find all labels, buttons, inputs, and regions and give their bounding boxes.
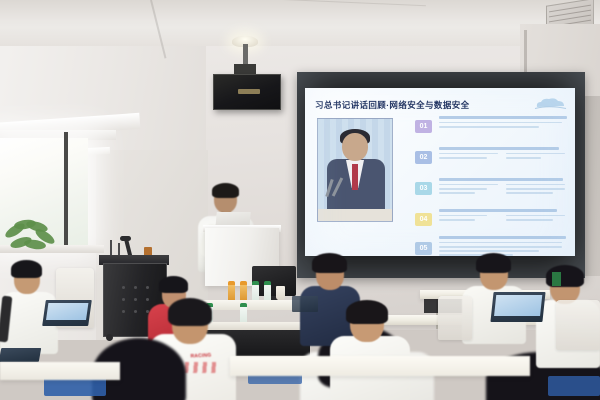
attendee-hair xyxy=(312,253,347,273)
projection-screen-surface: 习总书记讲话回顾·网络安全与数据安全 01 xyxy=(305,88,575,256)
chair xyxy=(438,296,472,340)
laptop xyxy=(490,292,545,322)
attendee-hair xyxy=(346,300,388,324)
chair xyxy=(556,300,600,350)
slide-badge-02: 02 xyxy=(415,151,432,164)
slide-badge-03: 03 xyxy=(415,182,432,195)
slide-body-text xyxy=(439,116,567,256)
exit-sign xyxy=(552,272,561,286)
projection-screen: 习总书记讲话回顾·网络安全与数据安全 01 xyxy=(297,72,585,278)
potted-plant xyxy=(4,218,62,258)
paper-cup xyxy=(276,286,285,300)
attendee-hair xyxy=(168,298,212,326)
ceiling-projector xyxy=(213,74,281,110)
classroom-photo: 习总书记讲话回顾·网络安全与数据安全 01 xyxy=(0,0,600,400)
slide-badge-05: 05 xyxy=(415,242,432,255)
laptop xyxy=(0,348,41,362)
bottle-cap-green xyxy=(252,281,259,285)
presenter-hair xyxy=(212,183,239,198)
laptop-screen xyxy=(494,295,542,316)
slide-section-badges: 01 02 03 04 05 xyxy=(413,118,437,256)
mousepad xyxy=(548,376,600,396)
bottle-cap xyxy=(240,281,247,285)
projector-brand-badge xyxy=(238,89,260,94)
laptop xyxy=(292,296,318,312)
window-mullion xyxy=(64,132,68,252)
slide-badge-04: 04 xyxy=(415,213,432,226)
slide-badge-01: 01 xyxy=(415,120,432,133)
attendee-right-seated xyxy=(330,300,410,400)
desk-foreground xyxy=(230,356,530,376)
slide-speaker-photo xyxy=(317,118,393,222)
cloud-logo-icon xyxy=(533,96,567,110)
bottle-cap-green xyxy=(240,303,247,307)
bottle-cap-green xyxy=(264,281,271,285)
bottle-cap xyxy=(228,281,235,285)
attendee-hair xyxy=(11,260,42,278)
attendee-hair xyxy=(476,253,511,273)
slide-title: 习总书记讲话回顾·网络安全与数据安全 xyxy=(315,99,470,111)
attendee-hair xyxy=(159,276,188,293)
laptop xyxy=(42,300,92,326)
desk-foreground-left xyxy=(0,362,120,380)
presentation-slide: 习总书记讲话回顾·网络安全与数据安全 01 xyxy=(305,88,575,256)
laptop-screen xyxy=(46,303,88,320)
ceiling-soffit xyxy=(0,0,600,20)
